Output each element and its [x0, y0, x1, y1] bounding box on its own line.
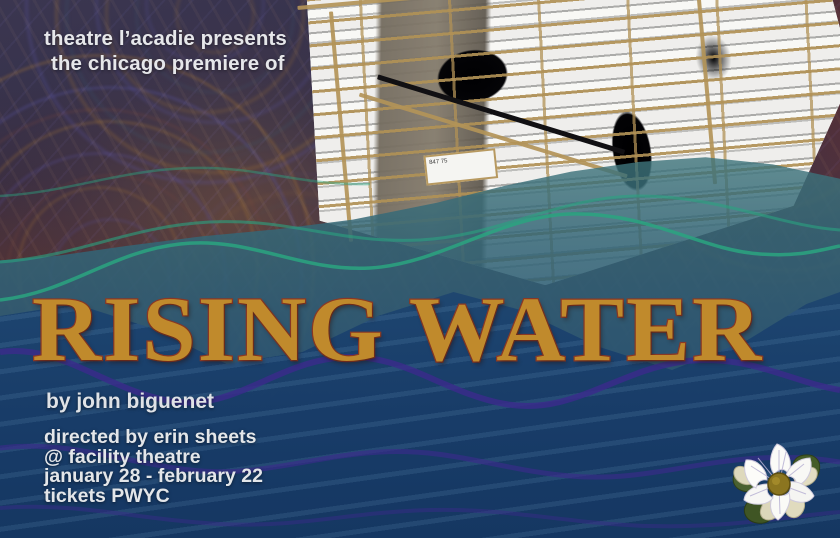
flower-center: [768, 473, 790, 495]
poster-canvas: 847 75 theatre l’acadie presents the chi…: [0, 0, 840, 538]
page-title: RISING WATER: [32, 283, 840, 375]
detail-dates: january 28 - february 22: [44, 467, 263, 487]
playwright-byline: by john biguenet: [46, 389, 214, 414]
detail-director: directed by erin sheets: [44, 428, 263, 448]
header-line-premiere: the chicago premiere of: [44, 51, 287, 76]
header-block: theatre l’acadie presents the chicago pr…: [44, 26, 287, 76]
production-details-block: directed by erin sheets @ facility theat…: [44, 428, 263, 506]
flower-center-highlight: [772, 477, 780, 485]
header-line-presents: theatre l’acadie presents: [44, 26, 287, 51]
detail-tickets: tickets PWYC: [44, 487, 263, 507]
white-magnolia-flower: [722, 428, 832, 532]
